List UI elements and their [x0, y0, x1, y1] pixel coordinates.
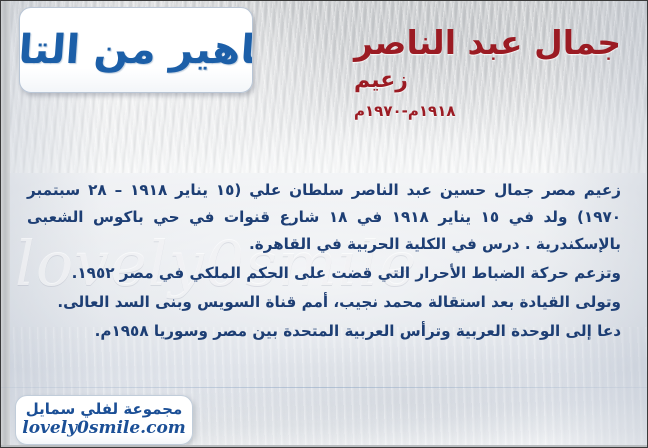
website-url[interactable]: lovely0smile.com	[22, 419, 186, 439]
title-block: جمال عبد الناصر زعيم ١٩١٨م-١٩٧٠م	[354, 25, 621, 120]
biography-card: lovely0smile مشاهير من التاريخ جمال عبد …	[0, 0, 648, 448]
series-logo-calligraphy: مشاهير من التاريخ	[19, 30, 253, 70]
footer-bottom-line	[1, 445, 647, 447]
card-footer: مجموعة لفلي سمايل lovely0smile.com	[1, 387, 647, 447]
footer-divider	[1, 387, 647, 388]
biography-body: زعيم مصر جمال حسين عبد الناصر سلطان علي …	[27, 177, 621, 347]
card-header: مشاهير من التاريخ جمال عبد الناصر زعيم ١…	[1, 1, 647, 161]
series-logo-box: مشاهير من التاريخ	[19, 7, 253, 93]
biography-paragraph: وتولى القيادة بعد استقالة محمد نجيب، أمم…	[27, 289, 621, 316]
group-name-arabic: مجموعة لفلي سمايل	[26, 401, 183, 418]
page-title: جمال عبد الناصر	[354, 25, 621, 61]
biography-paragraph: وتزعم حركة الضباط الأحرار التي قضت على ا…	[27, 260, 621, 287]
site-branding-box[interactable]: مجموعة لفلي سمايل lovely0smile.com	[15, 395, 193, 445]
biography-paragraph: دعا إلى الوحدة العربية وترأس العربية الم…	[27, 318, 621, 345]
person-lifespan-dates: ١٩١٨م-١٩٧٠م	[354, 103, 621, 120]
biography-paragraph: زعيم مصر جمال حسين عبد الناصر سلطان علي …	[27, 177, 621, 258]
person-role-subtitle: زعيم	[354, 69, 621, 93]
